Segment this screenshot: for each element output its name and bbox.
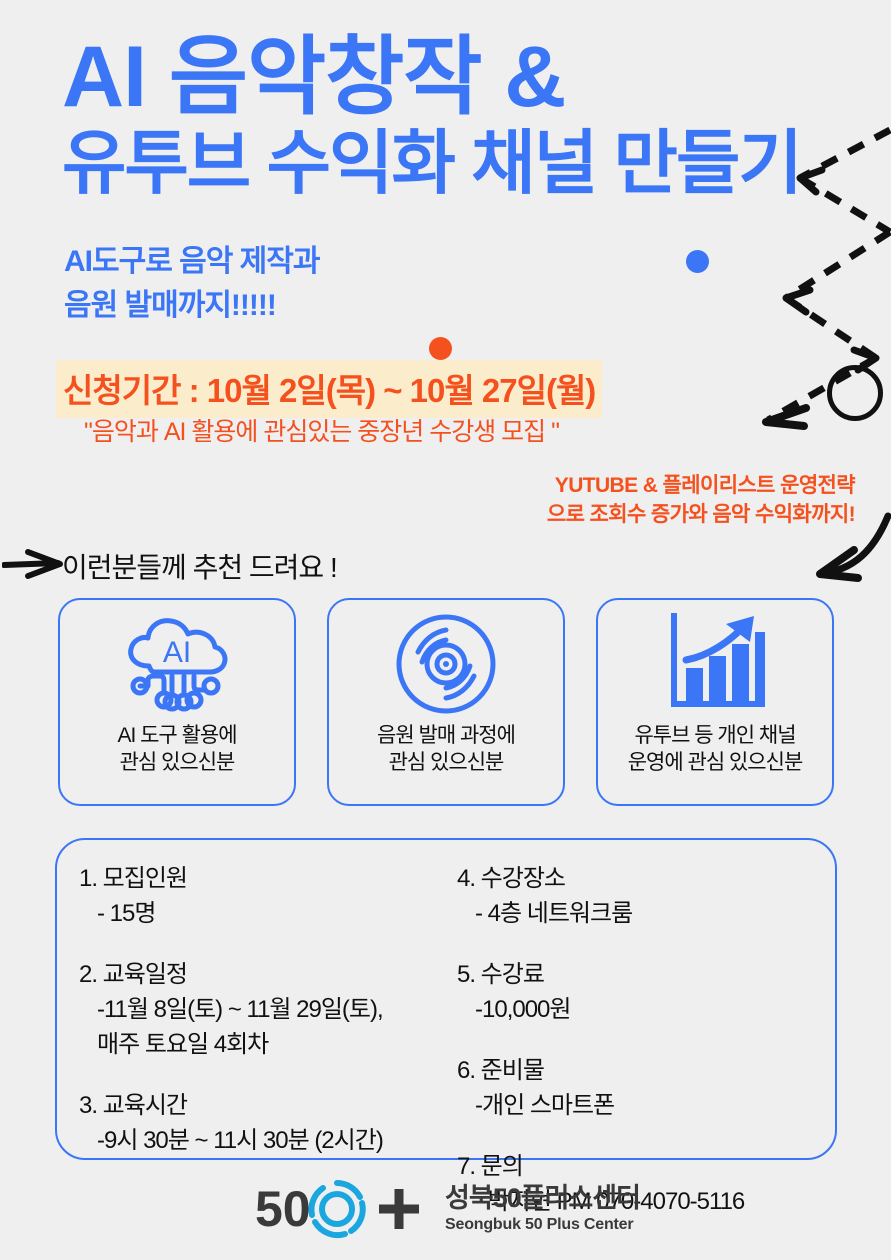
vinyl-record-icon — [394, 612, 498, 716]
monetization-note: YUTUBE & 플레이리스트 운영전략 으로 조회수 증가와 음악 수익화까지… — [547, 472, 855, 529]
footer-center-name: 성북50플러스센터 Seongbuk 50 Plus Center — [445, 1184, 640, 1235]
application-period-highlight: 신청기간 : 10월 2일(목) ~ 10월 27일(월) — [56, 360, 602, 418]
detail-title: 7. 문의 — [457, 1146, 827, 1181]
audience-card-label-line-1: 음원 발매 과정에 — [377, 722, 515, 749]
ai-cloud-icon: AI — [116, 612, 238, 716]
detail-sub: - 4층 네트워크룸 — [457, 893, 827, 928]
poster-headline: AI 음악창작 & 유투브 수익화 채널 만들기 — [62, 34, 852, 205]
circle-outline-decoration — [827, 365, 883, 421]
detail-item: 3. 교육시간 -9시 30분 ~ 11시 30분 (2시간) — [79, 1085, 439, 1155]
detail-title: 1. 모집인원 — [79, 858, 439, 893]
audience-card-label-line-1: 유투브 등 개인 채널 — [628, 722, 803, 749]
footer-branding: 50 성북50플러스센터 Seongbuk 50 Plus Center — [0, 1178, 891, 1240]
audience-card-label-line-2: 관심 있으신분 — [117, 749, 236, 776]
subheadline-line-2: 음원 발매까지!!!!! — [64, 284, 319, 328]
target-audience-quote: "음악과 AI 활용에 관심있는 중장년 수강생 모집 " — [84, 412, 559, 448]
audience-card-channel-growth: 유투브 등 개인 채널 운영에 관심 있으신분 — [596, 598, 834, 806]
audience-card-label-line-2: 운영에 관심 있으신분 — [628, 749, 803, 776]
headline-line-1: AI 음악창작 & — [62, 34, 852, 120]
detail-title: 2. 교육일정 — [79, 954, 439, 989]
audience-card-label-line-2: 관심 있으신분 — [377, 749, 515, 776]
detail-item: 1. 모집인원 - 15명 — [79, 858, 439, 928]
audience-card-label: 유투브 등 개인 채널 운영에 관심 있으신분 — [628, 722, 803, 777]
logo-number-text: 50 — [255, 1181, 311, 1237]
seongbuk-50plus-logo-icon: 50 — [251, 1178, 429, 1240]
audience-card-ai-tools: AI AI 도구 활용에 관심 있으신분 — [58, 598, 296, 806]
detail-sub: - 15명 — [79, 893, 439, 928]
detail-sub: -10,000원 — [457, 989, 827, 1024]
detail-title: 4. 수강장소 — [457, 858, 827, 893]
detail-title: 6. 준비물 — [457, 1050, 827, 1085]
poster-subheadline: AI도구로 음악 제작과 음원 발매까지!!!!! — [64, 240, 319, 327]
headline-line-2: 유투브 수익화 채널 만들기 — [62, 122, 852, 205]
orange-dot-decoration — [429, 337, 452, 360]
detail-sub: 매주 토요일 4회차 — [79, 1024, 439, 1059]
audience-card-label: 음원 발매 과정에 관심 있으신분 — [377, 722, 515, 777]
detail-item: 6. 준비물 -개인 스마트폰 — [457, 1050, 827, 1120]
audience-card-label: AI 도구 활용에 관심 있으신분 — [117, 722, 236, 777]
course-details-left-column: 1. 모집인원 - 15명 2. 교육일정 -11월 8일(토) ~ 11월 2… — [79, 858, 439, 1155]
detail-item: 4. 수강장소 - 4층 네트워크룸 — [457, 858, 827, 928]
svg-text:AI: AI — [163, 636, 191, 669]
course-details-box: 1. 모집인원 - 15명 2. 교육일정 -11월 8일(토) ~ 11월 2… — [55, 838, 837, 1160]
subheadline-line-1: AI도구로 음악 제작과 — [64, 240, 319, 284]
monetization-note-line-2: 으로 조회수 증가와 음악 수익화까지! — [547, 501, 855, 530]
course-details-right-column: 4. 수강장소 - 4층 네트워크룸 5. 수강료 -10,000원 6. 준비… — [457, 858, 827, 1216]
detail-sub: -9시 30분 ~ 11시 30분 (2시간) — [79, 1120, 439, 1155]
detail-sub: -개인 스마트폰 — [457, 1085, 827, 1120]
footer-name-korean: 성북50플러스센터 — [445, 1184, 640, 1214]
recommend-heading: 이런분들께 추천 드려요 ! — [62, 546, 337, 586]
right-pointing-arrow-icon — [2, 548, 64, 582]
blue-dot-decoration — [686, 250, 709, 273]
poster-canvas: AI 음악창작 & 유투브 수익화 채널 만들기 AI도구로 음악 제작과 음원… — [0, 0, 891, 1260]
footer-name-english: Seongbuk 50 Plus Center — [445, 1215, 640, 1234]
monetization-note-line-1: YUTUBE & 플레이리스트 운영전략 — [547, 472, 855, 501]
audience-card-label-line-1: AI 도구 활용에 — [117, 722, 236, 749]
growth-chart-icon — [660, 612, 770, 716]
detail-title: 3. 교육시간 — [79, 1085, 439, 1120]
audience-card-music-release: 음원 발매 과정에 관심 있으신분 — [327, 598, 565, 806]
detail-title: 5. 수강료 — [457, 954, 827, 989]
detail-item: 5. 수강료 -10,000원 — [457, 954, 827, 1024]
audience-card-row: AI AI 도구 활용에 관심 있으신분 — [58, 598, 834, 806]
detail-sub: -11월 8일(토) ~ 11월 29일(토), — [79, 989, 439, 1024]
detail-item: 2. 교육일정 -11월 8일(토) ~ 11월 29일(토), 매주 토요일 … — [79, 954, 439, 1059]
